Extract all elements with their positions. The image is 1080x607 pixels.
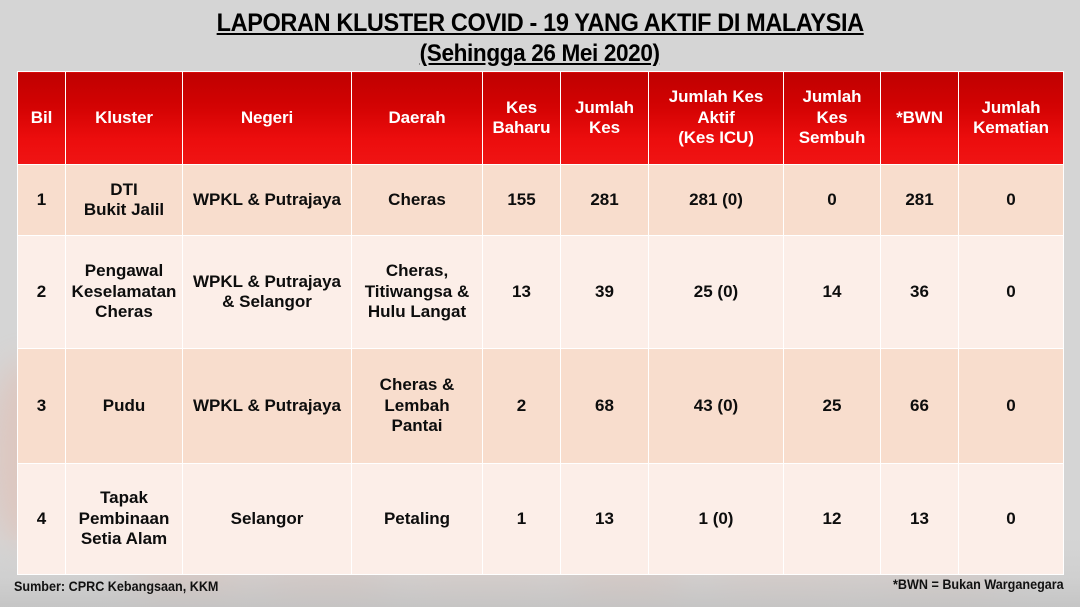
cell-kematian: 0	[959, 165, 1064, 236]
cell-negeri: WPKL & Putrajaya& Selangor	[183, 236, 352, 349]
cell-kluster: TapakPembinaanSetia Alam	[66, 464, 183, 575]
column-header-kematian: JumlahKematian	[959, 72, 1064, 165]
cell-negeri: WPKL & Putrajaya	[183, 165, 352, 236]
title-line-main: LAPORAN KLUSTER COVID - 19 YANG AKTIF DI…	[216, 8, 863, 39]
cell-kes-aktif: 25 (0)	[649, 236, 784, 349]
cell-bwn: 36	[881, 236, 959, 349]
cell-jumlah-kes: 39	[561, 236, 649, 349]
cell-bil: 2	[18, 236, 66, 349]
column-header-jumlah-kes: JumlahKes	[561, 72, 649, 165]
cell-kematian: 0	[959, 464, 1064, 575]
table-row: 2 PengawalKeselamatanCheras WPKL & Putra…	[18, 236, 1064, 349]
cell-bil: 1	[18, 165, 66, 236]
footer-legend: *BWN = Bukan Warganegara	[893, 576, 1064, 592]
cell-bwn: 281	[881, 165, 959, 236]
cell-kes-baharu: 1	[483, 464, 561, 575]
cell-kes-sembuh: 25	[784, 349, 881, 464]
cell-daerah: Cheras &LembahPantai	[352, 349, 483, 464]
column-header-bwn: *BWN	[881, 72, 959, 165]
cell-kes-aktif: 43 (0)	[649, 349, 784, 464]
column-header-kes-aktif: Jumlah KesAktif(Kes ICU)	[649, 72, 784, 165]
cell-jumlah-kes: 13	[561, 464, 649, 575]
cell-daerah: Petaling	[352, 464, 483, 575]
cell-kes-sembuh: 0	[784, 165, 881, 236]
cell-negeri: Selangor	[183, 464, 352, 575]
table-header-row: Bil Kluster Negeri Daerah KesBaharu Juml…	[18, 72, 1064, 165]
cell-bil: 3	[18, 349, 66, 464]
title-line-date: (Sehingga 26 Mei 2020)	[420, 39, 660, 68]
cell-bil: 4	[18, 464, 66, 575]
footer-source: Sumber: CPRC Kebangsaan, KKM	[14, 578, 218, 594]
cell-kluster: Pudu	[66, 349, 183, 464]
column-header-kes-baharu: KesBaharu	[483, 72, 561, 165]
column-header-daerah: Daerah	[352, 72, 483, 165]
cell-kluster: DTIBukit Jalil	[66, 165, 183, 236]
table-row: 3 Pudu WPKL & Putrajaya Cheras &LembahPa…	[18, 349, 1064, 464]
cell-kematian: 0	[959, 349, 1064, 464]
cell-jumlah-kes: 281	[561, 165, 649, 236]
cell-bwn: 13	[881, 464, 959, 575]
cell-kes-aktif: 281 (0)	[649, 165, 784, 236]
cell-kes-aktif: 1 (0)	[649, 464, 784, 575]
cell-jumlah-kes: 68	[561, 349, 649, 464]
page-title: LAPORAN KLUSTER COVID - 19 YANG AKTIF DI…	[0, 8, 1080, 68]
column-header-bil: Bil	[18, 72, 66, 165]
table-row: 4 TapakPembinaanSetia Alam Selangor Peta…	[18, 464, 1064, 575]
active-clusters-table: Bil Kluster Negeri Daerah KesBaharu Juml…	[17, 71, 1064, 575]
cell-kes-baharu: 13	[483, 236, 561, 349]
cell-kes-baharu: 155	[483, 165, 561, 236]
cell-kes-sembuh: 14	[784, 236, 881, 349]
column-header-kes-sembuh: JumlahKesSembuh	[784, 72, 881, 165]
table-row: 1 DTIBukit Jalil WPKL & Putrajaya Cheras…	[18, 165, 1064, 236]
cell-kes-sembuh: 12	[784, 464, 881, 575]
cell-kes-baharu: 2	[483, 349, 561, 464]
cell-kematian: 0	[959, 236, 1064, 349]
cell-bwn: 66	[881, 349, 959, 464]
cell-negeri: WPKL & Putrajaya	[183, 349, 352, 464]
cell-kluster: PengawalKeselamatanCheras	[66, 236, 183, 349]
cell-daerah: Cheras	[352, 165, 483, 236]
cell-daerah: Cheras,Titiwangsa &Hulu Langat	[352, 236, 483, 349]
column-header-negeri: Negeri	[183, 72, 352, 165]
column-header-kluster: Kluster	[66, 72, 183, 165]
